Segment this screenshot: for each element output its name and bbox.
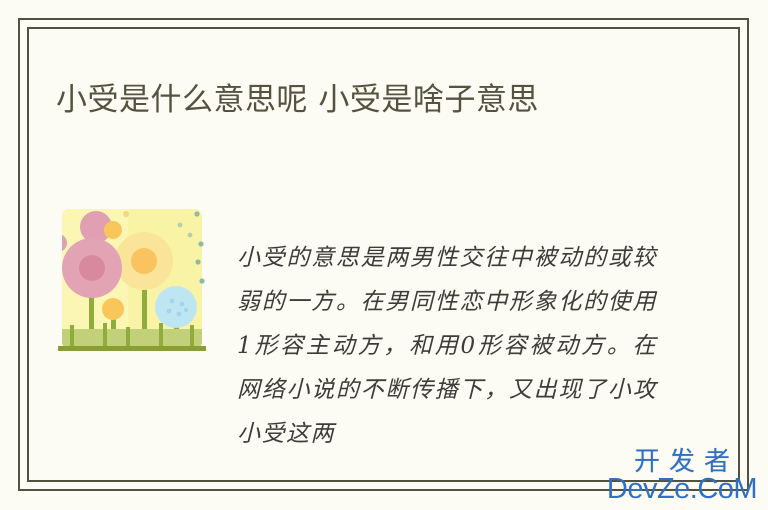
watermark-domain-label: DevZe.CoM [602,474,762,504]
teal-dot-4 [199,278,204,283]
grass-blade-5 [159,323,163,347]
grass-blade-1 [56,321,60,347]
blue-flower-dot-5 [184,308,188,312]
teal-dot-1 [194,211,199,216]
grass-blade-6 [190,325,194,347]
blue-flower-dot-2 [180,302,185,307]
page-title: 小受是什么意思呢 小受是啥子意思 [56,79,696,122]
blue-flower-dot-4 [177,312,182,317]
orange-top-flower [104,221,122,239]
grass-blade-4 [126,327,130,347]
blue-flower-dot-1 [170,299,175,304]
orange-small-flower [102,298,124,320]
yellow-large-flower-center [131,248,157,274]
pink-edge-flower-center [56,239,62,247]
article-body-text: 小受的意思是两男性交往中被动的或较弱的一方。在男同性恋中形象化的使用1形容主动方… [237,236,657,456]
pink-large-flower-center [79,255,105,281]
blue-flower [155,286,197,328]
content-row: 小受的意思是两男性交往中被动的或较弱的一方。在男同性恋中形象化的使用1形容主动方… [56,205,711,470]
blue-flower-dot-3 [167,309,172,314]
site-watermark: 开发者 DevZe.CoM [602,448,762,504]
flower-illustration [56,205,208,357]
teal-dot-6 [188,233,193,238]
ground-line [58,346,206,351]
tiny-dot-b [123,211,129,217]
flower-illustration-svg [56,205,208,357]
page-canvas: 小受是什么意思呢 小受是啥子意思 [0,0,768,510]
teal-dot-2 [198,241,203,246]
grass-blade-2 [70,325,74,347]
grass-band [56,329,208,347]
teal-dot-3 [195,259,200,264]
grass-blade-3 [103,323,107,347]
teal-dot-5 [178,223,183,228]
watermark-chinese-label: 开发者 [602,448,762,476]
